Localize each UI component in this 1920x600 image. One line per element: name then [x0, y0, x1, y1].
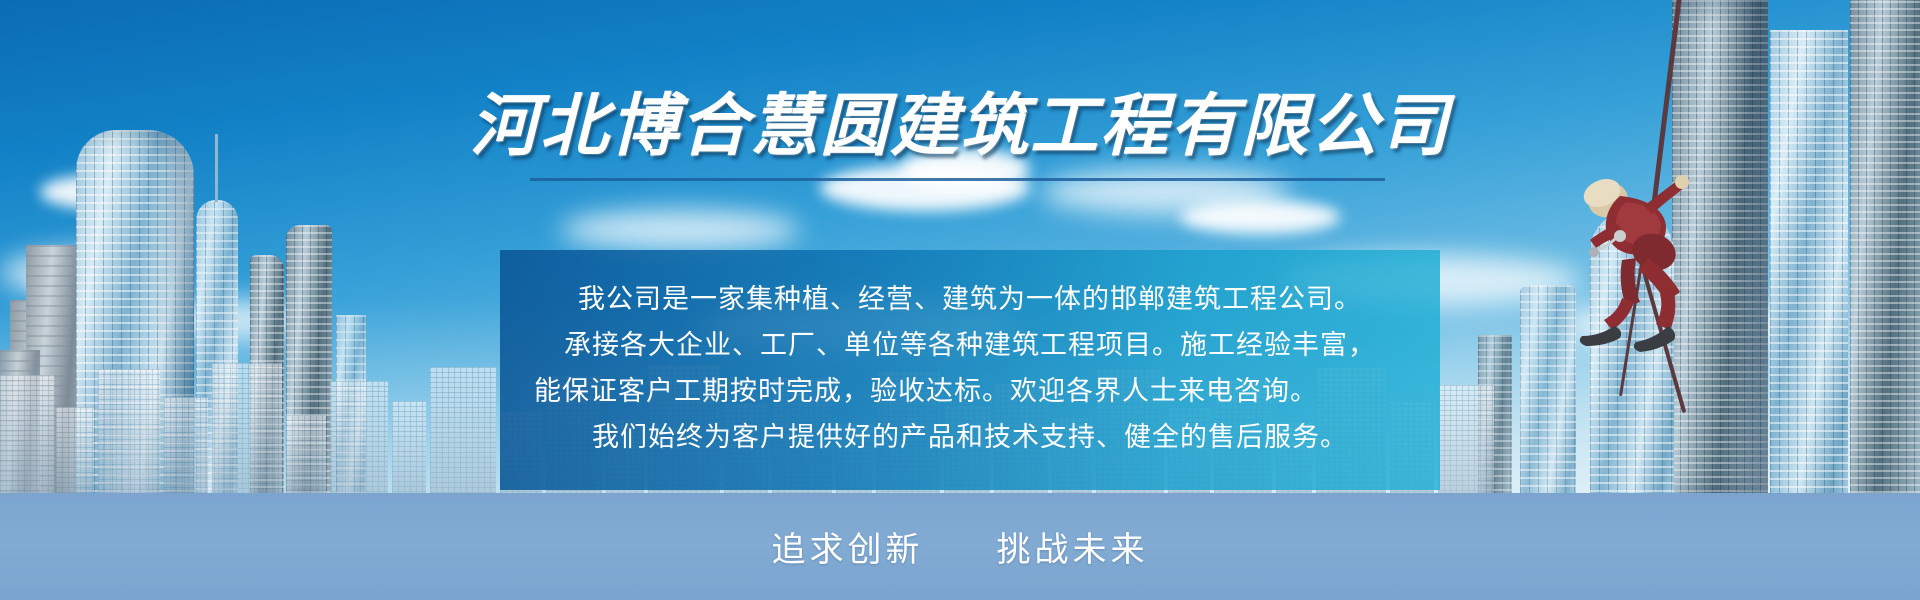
company-intro-panel: 我公司是一家集种植、经营、建筑为一体的邯郸建筑工程公司。 承接各大企业、工厂、单…: [500, 250, 1440, 490]
cloud-decoration: [1180, 200, 1340, 234]
skyline-building: [0, 375, 54, 493]
company-title-wrap: 河北博合慧圆建筑工程有限公司: [0, 92, 1920, 160]
skyline-building: [56, 407, 94, 493]
title-underline-rule: [530, 178, 1385, 181]
slogan-band: 追求创新 挑战未来: [0, 493, 1920, 600]
page-title: 河北博合慧圆建筑工程有限公司: [470, 92, 1450, 160]
slogan-text: 追求创新 挑战未来: [772, 522, 1149, 571]
skyline-building: [98, 369, 160, 493]
intro-line: 承接各大企业、工厂、单位等各种建筑工程项目。施工经验丰富，: [534, 322, 1406, 368]
slogan-left-phrase: 追求创新: [772, 531, 924, 569]
cloud-decoration: [560, 210, 800, 250]
company-hero-banner: 河北博合慧圆建筑工程有限公司 我公司是一家集种植、经营、建筑为一体的邯郸建筑工程…: [0, 0, 1920, 600]
rappelling-worker-figure: [1430, 0, 1760, 420]
intro-line: 我们始终为客户提供好的产品和技术支持、健全的售后服务。: [534, 414, 1406, 460]
skyline-building: [430, 367, 496, 493]
skyline-building: [392, 401, 426, 493]
worker-silhouette-icon: [1430, 0, 1760, 420]
slogan-right-phrase: 挑战未来: [996, 531, 1148, 569]
skyline-building: [330, 381, 388, 493]
skyline-building: [212, 363, 282, 493]
cloud-decoration: [1040, 170, 1290, 214]
cloud-decoration: [820, 165, 1030, 211]
skyline-building: [164, 397, 208, 493]
company-intro-text: 我公司是一家集种植、经营、建筑为一体的邯郸建筑工程公司。 承接各大企业、工厂、单…: [500, 250, 1440, 460]
intro-line: 我公司是一家集种植、经营、建筑为一体的邯郸建筑工程公司。: [534, 276, 1406, 322]
skyline-building: [286, 415, 326, 493]
intro-line: 能保证客户工期按时完成，验收达标。欢迎各界人士来电咨询。: [534, 368, 1406, 414]
